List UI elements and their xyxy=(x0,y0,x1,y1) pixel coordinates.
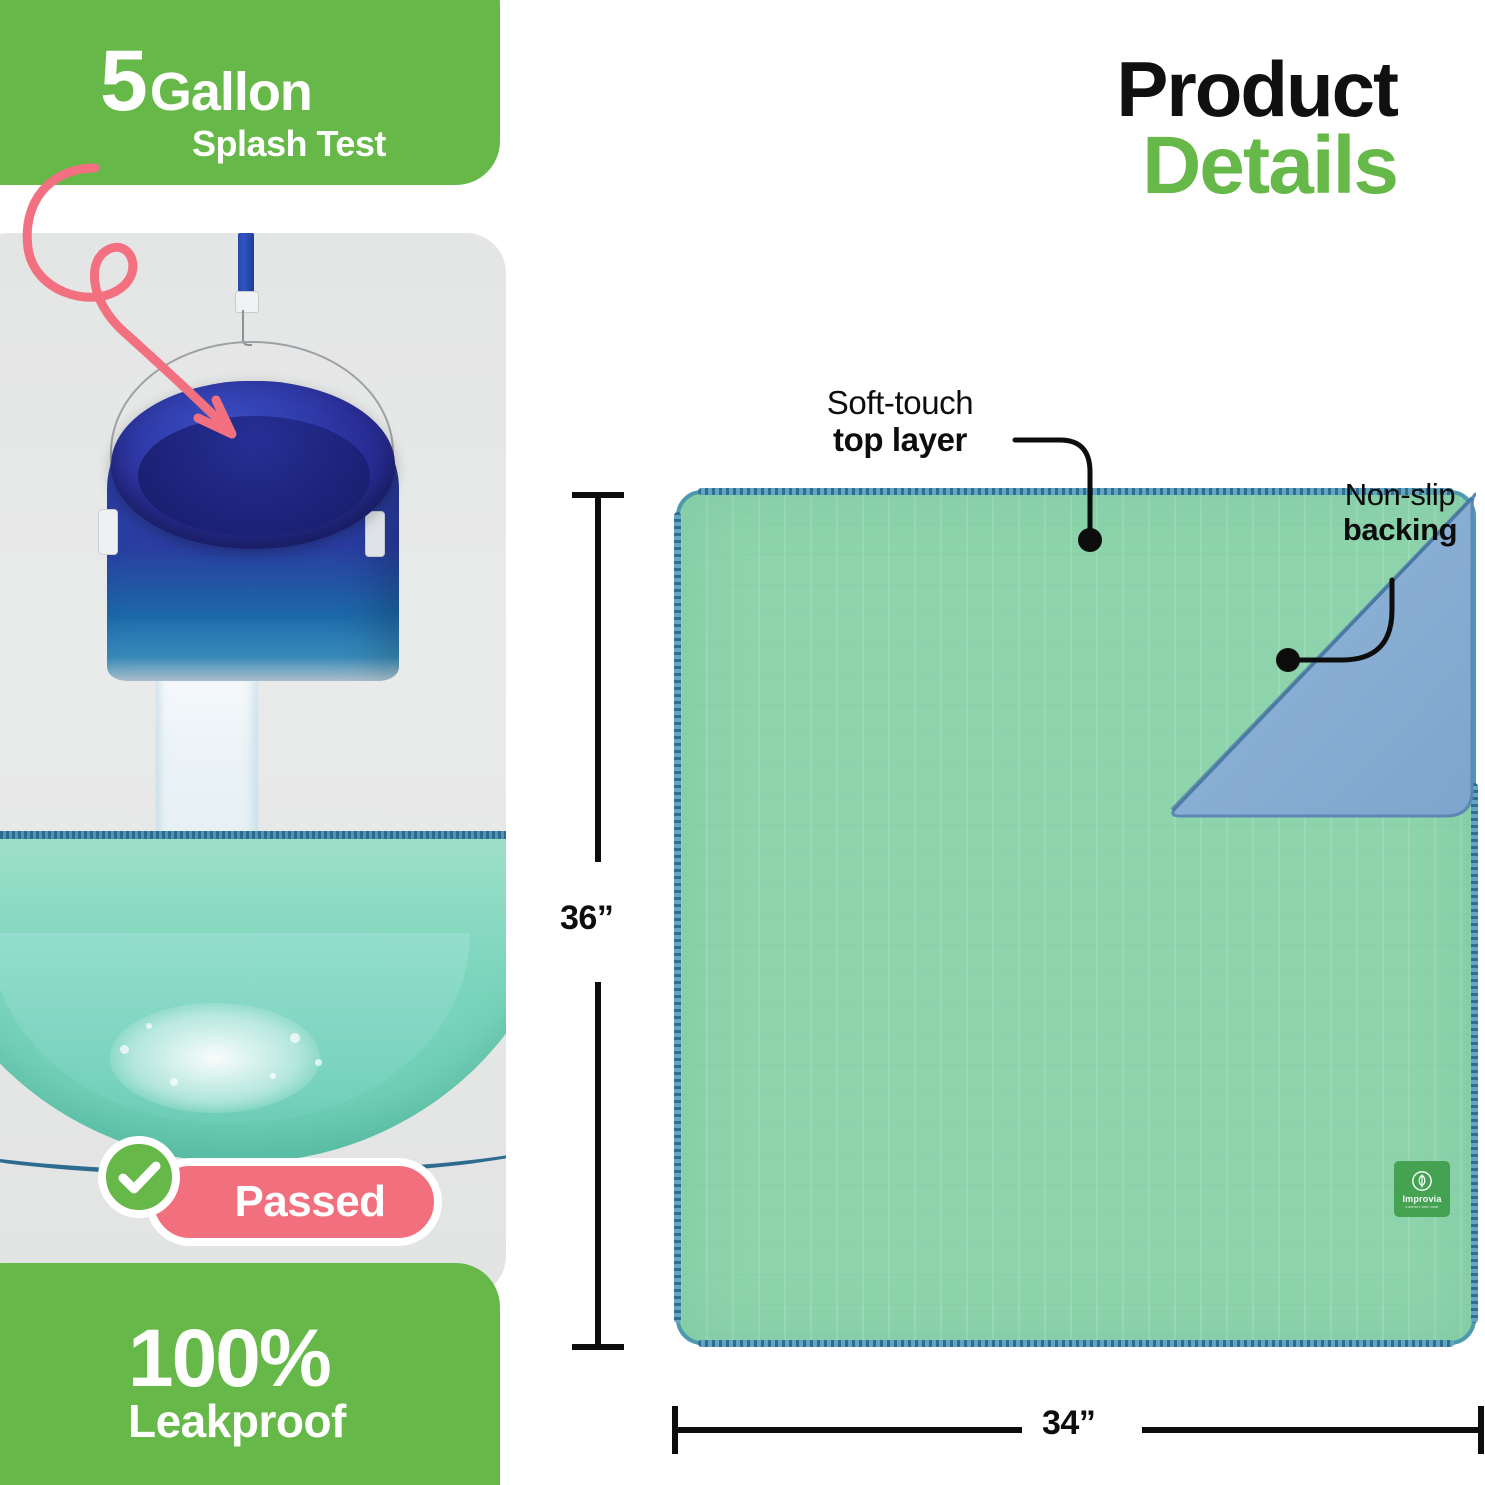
page-title-line2: Details xyxy=(1116,127,1397,206)
splash-test-title: 5 Gallon Splash Test xyxy=(100,42,500,165)
brand-tagline: comfort and care xyxy=(1405,1204,1438,1209)
page-title: Product Details xyxy=(1116,52,1397,206)
callout-non-slip-line2: backing xyxy=(1310,513,1485,548)
pad-stitch-bottom xyxy=(698,1340,1454,1347)
callout-non-slip-backing: Non-slip backing xyxy=(1310,478,1485,547)
bucket-strap xyxy=(238,233,254,293)
improvia-logo-icon xyxy=(1411,1170,1433,1192)
callout-non-slip-line1: Non-slip xyxy=(1310,478,1485,513)
leakproof-percent: 100% xyxy=(128,1320,346,1398)
passed-pill: Passed xyxy=(146,1158,442,1246)
brand-tag: Improvia comfort and care xyxy=(1394,1161,1450,1217)
check-icon xyxy=(98,1136,180,1218)
water-droplet xyxy=(290,1033,300,1043)
passed-label: Passed xyxy=(202,1177,385,1227)
pad-stitch-left xyxy=(674,512,681,1323)
water-droplet xyxy=(146,1023,152,1029)
water-droplet xyxy=(120,1045,129,1054)
dimension-width-label: 34” xyxy=(1042,1404,1095,1443)
brand-name: Improvia xyxy=(1402,1194,1441,1204)
bucket-handle-ear-right xyxy=(365,511,385,557)
bucket-interior xyxy=(138,416,370,536)
splash-test-photo xyxy=(0,233,506,1296)
splash-test-subtitle: Splash Test xyxy=(192,123,500,165)
callout-soft-touch-line2: top layer xyxy=(790,422,1010,459)
water-splash xyxy=(110,1003,320,1113)
water-droplet xyxy=(170,1078,178,1086)
gallon-count: 5 xyxy=(100,42,146,121)
gallon-unit: Gallon xyxy=(150,68,312,118)
leakproof-label: Leakproof xyxy=(128,1400,346,1444)
leakproof-title: 100% Leakproof xyxy=(128,1320,346,1444)
product-pad: Improvia comfort and care xyxy=(676,490,1476,1345)
product-infographic: 5 Gallon Splash Test xyxy=(0,0,1485,1485)
callout-soft-touch-line1: Soft-touch xyxy=(790,385,1010,422)
dimension-height-label: 36” xyxy=(560,899,613,938)
pad-stitch-right xyxy=(1471,783,1478,1323)
pad-sling-top-stitch xyxy=(0,831,506,839)
callout-soft-touch-top-layer: Soft-touch top layer xyxy=(790,385,1010,459)
water-droplet xyxy=(270,1073,276,1079)
water-droplet xyxy=(315,1059,322,1066)
bucket-handle-ear-left xyxy=(98,509,118,555)
page-title-line1: Product xyxy=(1116,52,1397,127)
